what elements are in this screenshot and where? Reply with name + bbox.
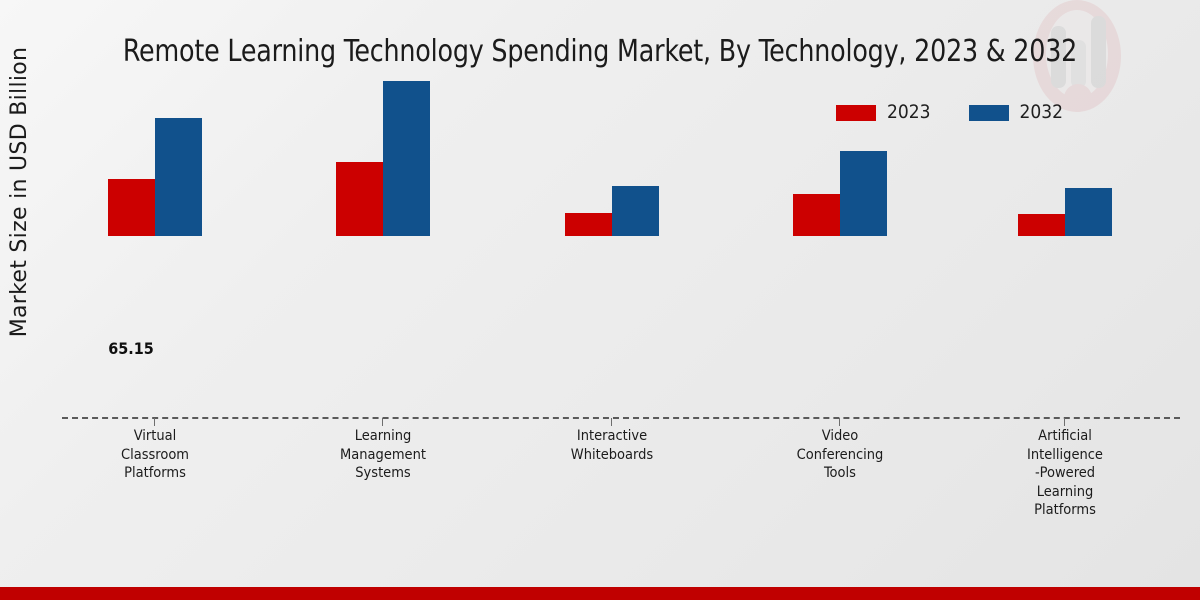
- x-axis-label-line: Platforms: [73, 464, 237, 483]
- x-axis-tick-2: [611, 418, 612, 426]
- bar-group-1: Learning Management Systems: [335, 0, 431, 600]
- bar-group-4: Artificial Intelligence -Powered Learnin…: [1017, 0, 1113, 600]
- x-axis-label-line: Virtual: [73, 427, 237, 446]
- x-axis-label-line: Artificial: [983, 427, 1147, 446]
- bar-2032-2[interactable]: [612, 186, 659, 236]
- bar-2023-0[interactable]: [108, 179, 155, 236]
- x-axis-label-line: Learning: [301, 427, 465, 446]
- x-axis-label-line: Classroom: [73, 446, 237, 465]
- bar-2023-2[interactable]: [565, 213, 612, 236]
- x-axis-label-2: Interactive Whiteboards: [530, 427, 694, 464]
- bar-2023-1[interactable]: [336, 162, 383, 236]
- x-axis-label-line: Interactive: [530, 427, 694, 446]
- x-axis-label-1: Learning Management Systems: [301, 427, 465, 483]
- bar-group-bars: 65.15: [107, 0, 203, 418]
- bar-group-bars: [564, 0, 660, 418]
- x-axis-label-0: Virtual Classroom Platforms: [73, 427, 237, 483]
- bar-group-bars: [1017, 0, 1113, 418]
- bar-value-label-0: 65.15: [83, 339, 179, 358]
- x-axis-tick-4: [1064, 418, 1065, 426]
- chart-figure: Remote Learning Technology Spending Mark…: [0, 0, 1200, 600]
- x-axis-label-line: Whiteboards: [530, 446, 694, 465]
- bar-group-3: Video Conferencing Tools: [792, 0, 888, 600]
- bottom-accent-band: [0, 587, 1200, 600]
- plot-area: 65.15 Virtual Classroom Platforms Learni…: [0, 0, 1200, 600]
- bar-group-0: 65.15 Virtual Classroom Platforms: [107, 0, 203, 600]
- x-axis-label-line: Tools: [758, 464, 922, 483]
- x-axis-label-line: Video: [758, 427, 922, 446]
- bar-group-bars: [792, 0, 888, 418]
- x-axis-label-line: Management: [301, 446, 465, 465]
- x-axis-label-line: -Powered: [983, 464, 1147, 483]
- bar-2032-3[interactable]: [840, 151, 887, 236]
- x-axis-label-line: Learning: [983, 483, 1147, 502]
- bar-2032-1[interactable]: [383, 81, 430, 236]
- x-axis-label-3: Video Conferencing Tools: [758, 427, 922, 483]
- bar-group-bars: [335, 0, 431, 418]
- x-axis-tick-0: [154, 418, 155, 426]
- bar-group-2: Interactive Whiteboards: [564, 0, 660, 600]
- x-axis-label-4: Artificial Intelligence -Powered Learnin…: [983, 427, 1147, 520]
- bar-2032-4[interactable]: [1065, 188, 1112, 236]
- bar-2023-3[interactable]: [793, 194, 840, 236]
- bar-2023-4[interactable]: [1018, 214, 1065, 236]
- x-axis-label-line: Systems: [301, 464, 465, 483]
- x-axis-tick-1: [382, 418, 383, 426]
- x-axis-label-line: Intelligence: [983, 446, 1147, 465]
- x-axis-tick-3: [839, 418, 840, 426]
- bar-2032-0[interactable]: [155, 118, 202, 236]
- x-axis-label-line: Platforms: [983, 501, 1147, 520]
- x-axis-label-line: Conferencing: [758, 446, 922, 465]
